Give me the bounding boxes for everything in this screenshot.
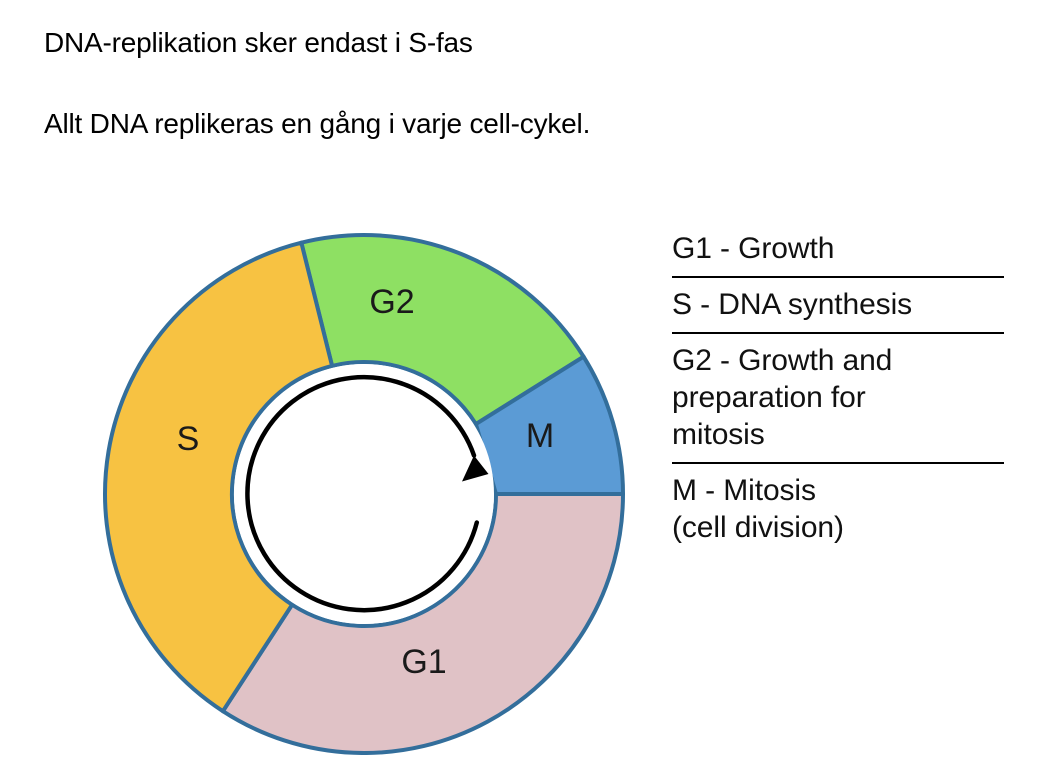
legend-entry-g2-line-1: G2 - Growth and [672,342,1017,379]
legend-entry-g2: G2 - Growth and preparation for mitosis [672,334,1017,462]
donut-hole [234,364,494,624]
donut-label-g2: G2 [369,283,414,321]
headline-primary: DNA-replikation sker endast i S-fas [44,26,904,60]
donut-label-m: M [526,417,554,455]
legend-entry-m-line-2: (cell division) [672,509,1017,546]
legend-entry-m: M - Mitosis (cell division) [672,464,1017,555]
headline-secondary: Allt DNA replikeras en gång i varje cell… [44,107,904,141]
cell-cycle-figure: G2 M G1 S G1 - Growth S - DNA synthesis … [0,195,1060,770]
donut-label-g1: G1 [401,643,446,681]
legend-entry-g1: G1 - Growth [672,222,1017,276]
cell-cycle-donut-chart: G2 M G1 S [95,210,640,755]
slide-canvas: DNA-replikation sker endast i S-fas Allt… [0,0,1060,770]
legend-entry-s: S - DNA synthesis [672,278,1017,332]
slide-text-block: DNA-replikation sker endast i S-fas Allt… [44,26,904,141]
donut-label-s: S [177,420,200,458]
legend-entry-g1-line-1: G1 - Growth [672,230,1017,267]
cell-cycle-legend: G1 - Growth S - DNA synthesis G2 - Growt… [672,222,1017,555]
legend-entry-m-line-1: M - Mitosis [672,472,1017,509]
legend-entry-s-line-1: S - DNA synthesis [672,286,1017,323]
legend-entry-g2-line-3: mitosis [672,416,1017,453]
legend-entry-g2-line-2: preparation for [672,379,1017,416]
